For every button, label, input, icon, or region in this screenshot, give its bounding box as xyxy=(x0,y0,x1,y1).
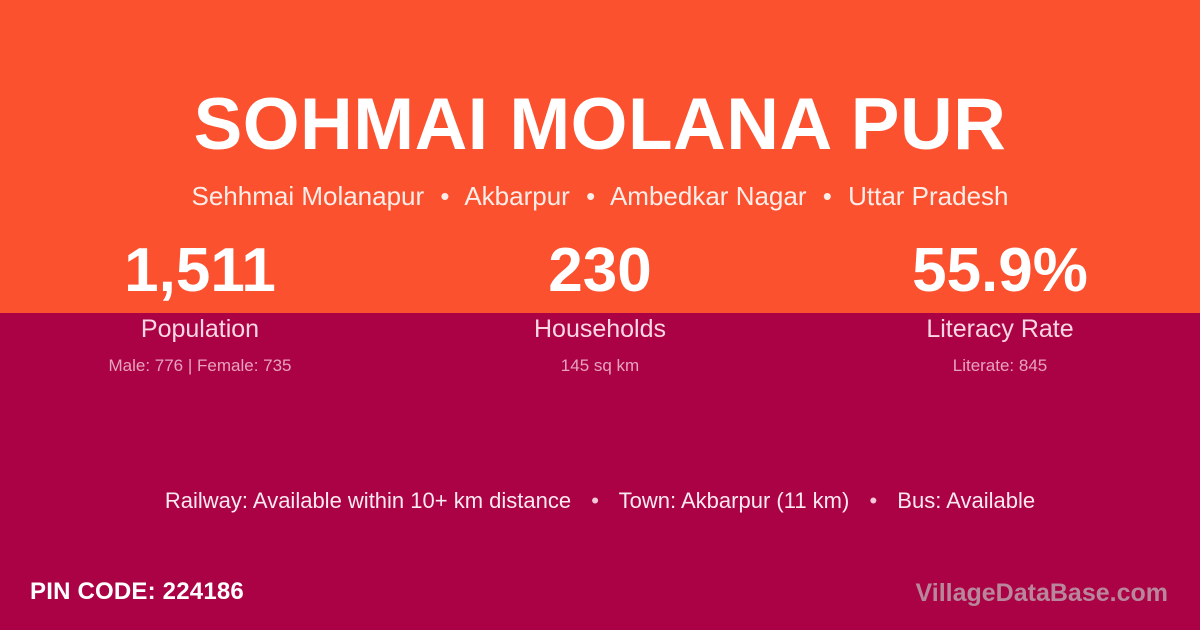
breadcrumb-block: Akbarpur xyxy=(464,181,570,211)
stat-value: 230 xyxy=(400,240,800,302)
breadcrumb-separator-icon: • xyxy=(814,180,841,213)
page-title: SOHMAI MOLANA PUR xyxy=(0,88,1200,161)
stat-detail: 145 sq km xyxy=(400,355,800,377)
infra-separator-icon: • xyxy=(855,487,891,514)
breadcrumb-state: Uttar Pradesh xyxy=(848,181,1008,211)
site-branding: VillageDataBase.com xyxy=(916,578,1168,608)
breadcrumb-district: Ambedkar Nagar xyxy=(610,181,807,211)
breadcrumb: Sehhmai Molanapur • Akbarpur • Ambedkar … xyxy=(0,180,1200,213)
infra-town: Town: Akbarpur (11 km) xyxy=(619,488,850,513)
infra-separator-icon: • xyxy=(577,487,613,514)
stat-detail: Literate: 845 xyxy=(800,355,1200,377)
stat-label: Literacy Rate xyxy=(800,314,1200,344)
breadcrumb-separator-icon: • xyxy=(431,180,458,213)
stat-literacy-rate: 55.9% Literacy Rate Literate: 845 xyxy=(800,240,1200,377)
infrastructure-summary: Railway: Available within 10+ km distanc… xyxy=(0,487,1200,514)
infra-railway: Railway: Available within 10+ km distanc… xyxy=(165,488,571,513)
stat-value: 1,511 xyxy=(0,240,400,302)
stat-value: 55.9% xyxy=(800,240,1200,302)
breadcrumb-separator-icon: • xyxy=(577,180,604,213)
village-info-card: SOHMAI MOLANA PUR Sehhmai Molanapur • Ak… xyxy=(0,0,1200,630)
stat-population: 1,511 Population Male: 776 | Female: 735 xyxy=(0,240,400,377)
stat-detail: Male: 776 | Female: 735 xyxy=(0,355,400,377)
stat-label: Population xyxy=(0,314,400,344)
breadcrumb-village: Sehhmai Molanapur xyxy=(191,181,424,211)
infra-bus: Bus: Available xyxy=(897,488,1035,513)
pin-code-label: PIN CODE: 224186 xyxy=(30,577,244,607)
stat-label: Households xyxy=(400,314,800,344)
statistics-row: 1,511 Population Male: 776 | Female: 735… xyxy=(0,240,1200,377)
stat-households: 230 Households 145 sq km xyxy=(400,240,800,377)
